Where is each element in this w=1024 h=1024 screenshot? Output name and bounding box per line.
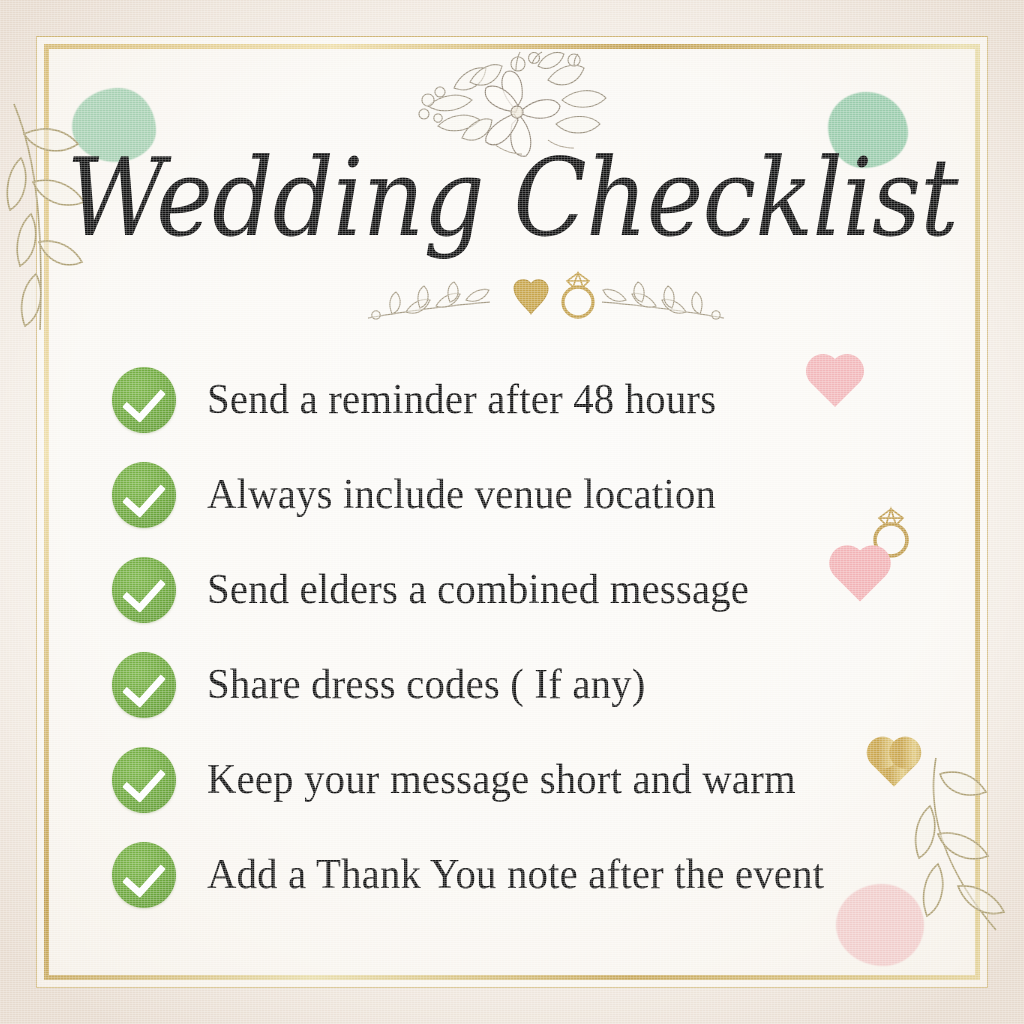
list-item[interactable]: Keep your message short and warm [112, 732, 912, 827]
page-title: Wedding Checklist [0, 142, 1024, 255]
list-item-label: Send elders a combined message [207, 566, 749, 614]
title-divider [362, 268, 730, 330]
check-icon[interactable] [112, 557, 176, 623]
list-item-label: Keep your message short and warm [207, 756, 796, 804]
list-item-label: Send a reminder after 48 hours [207, 376, 716, 424]
list-item[interactable]: Send a reminder after 48 hours [112, 352, 912, 447]
check-icon[interactable] [112, 842, 176, 908]
list-item[interactable]: Send elders a combined message [112, 542, 912, 637]
check-icon[interactable] [112, 462, 176, 528]
check-icon[interactable] [112, 652, 176, 718]
leafy-vine-icon [900, 752, 1024, 996]
list-item-label: Share dress codes ( If any) [207, 661, 646, 709]
list-item-label: Always include venue location [207, 471, 716, 519]
list-item-label: Add a Thank You note after the event [207, 851, 824, 899]
check-icon[interactable] [112, 367, 176, 433]
list-item[interactable]: Always include venue location [112, 447, 912, 542]
list-item[interactable]: Add a Thank You note after the event [112, 827, 912, 922]
list-item[interactable]: Share dress codes ( If any) [112, 637, 912, 732]
check-icon[interactable] [112, 747, 176, 813]
wedding-checklist-poster: Wedding Checklist [0, 0, 1024, 1024]
checklist: Send a reminder after 48 hours Always in… [112, 352, 912, 922]
